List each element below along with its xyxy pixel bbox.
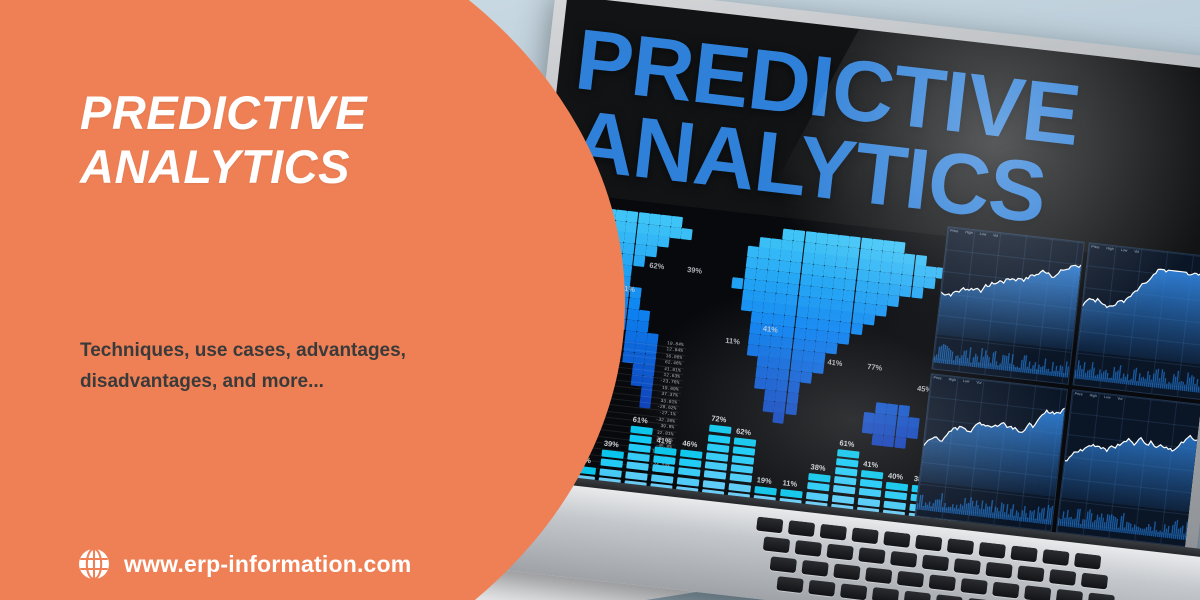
bar-segment <box>859 488 882 497</box>
panel-chart <box>932 227 1083 383</box>
bar-label: 61% <box>632 414 648 425</box>
bar-label: 41% <box>863 459 879 470</box>
keyboard-key <box>808 580 835 597</box>
bar-label: 39% <box>603 439 619 450</box>
keyboard-key <box>1088 593 1115 600</box>
bar-segment <box>630 425 653 434</box>
globe-icon <box>78 548 110 580</box>
panel-top-left: PriceHighLowVol <box>931 226 1084 385</box>
bar-segment <box>704 471 727 480</box>
page-title-line2: ANALYTICS <box>80 140 500 194</box>
bar-segment <box>651 474 674 483</box>
keyboard-key <box>883 531 910 548</box>
keyboard-key <box>1081 573 1108 590</box>
bar-segment <box>734 437 757 446</box>
bar-label: 46% <box>682 439 698 450</box>
keyboard-key <box>770 556 797 573</box>
bar-segment <box>886 482 909 491</box>
bar-segment <box>599 468 622 477</box>
keyboard-key <box>935 594 962 600</box>
keyboard-key <box>776 576 803 593</box>
keyboard-key <box>858 547 885 564</box>
bar-segment <box>708 434 731 443</box>
website-row[interactable]: www.erp-information.com <box>78 548 411 580</box>
subtitle-line1: Techniques, use cases, advantages, <box>80 336 510 367</box>
bar-segment <box>629 434 652 443</box>
bar-segment <box>807 482 830 491</box>
bar-segment <box>836 458 859 467</box>
bar-segment <box>707 443 730 452</box>
bar-segment <box>860 479 883 488</box>
bar-label: 38% <box>810 462 826 473</box>
bar-segment <box>754 486 777 495</box>
keyboard-key <box>1017 565 1044 582</box>
keyboard-key <box>890 551 917 568</box>
map-label: 77% <box>867 362 883 373</box>
bar-segment <box>705 461 728 470</box>
bar-segment <box>601 450 624 459</box>
bar-segment <box>835 467 858 476</box>
panel-bottom-right: PriceHighLowVol <box>1056 389 1200 548</box>
keyboard-key <box>897 571 924 588</box>
panel-chart <box>916 374 1067 530</box>
subtitle: Techniques, use cases, advantages, disad… <box>80 336 510 398</box>
bar-segment <box>678 468 701 477</box>
keyboard-key <box>851 527 878 544</box>
bar-segment <box>806 491 829 500</box>
bar-segment <box>627 453 650 462</box>
bar-label: 61% <box>839 438 855 449</box>
keyboard-key <box>865 567 892 584</box>
keyboard-key <box>1024 585 1051 600</box>
keyboard-key <box>1056 589 1083 600</box>
bar <box>701 425 731 501</box>
bar-segment <box>628 443 651 452</box>
copy-block: PREDICTIVE ANALYTICS Techniques, use cas… <box>0 0 520 600</box>
bar-segment <box>703 480 726 489</box>
map-label: 39% <box>687 265 703 276</box>
keyboard-key <box>801 560 828 577</box>
bar-label: 72% <box>711 414 727 425</box>
panel-top-right: PriceHighLowVol <box>1072 242 1200 401</box>
panel-chart <box>1057 390 1200 547</box>
map-label: 62% <box>649 261 665 272</box>
keyboard-key <box>922 555 949 572</box>
website-url[interactable]: www.erp-information.com <box>124 551 411 578</box>
keyboard-key <box>1010 545 1037 562</box>
keyboard-key <box>795 540 822 557</box>
keyboard-key <box>820 524 847 541</box>
bar-segment <box>626 462 649 471</box>
bar-segment <box>834 476 857 485</box>
bar-segment <box>706 452 729 461</box>
keyboard-key <box>960 578 987 595</box>
keyboard-key <box>954 558 981 575</box>
keyboard-key <box>788 520 815 537</box>
bar-label: 40% <box>888 471 904 482</box>
bar-segment <box>833 485 856 494</box>
bar-segment <box>861 470 884 479</box>
page-title: PREDICTIVE ANALYTICS <box>80 86 500 194</box>
bar-segment <box>600 459 623 468</box>
bar <box>727 437 756 503</box>
keyboard-key <box>985 562 1012 579</box>
keyboard-key <box>1042 549 1069 566</box>
keyboard-key <box>1049 569 1076 586</box>
bar-label: 11% <box>782 478 798 489</box>
bar <box>624 425 653 491</box>
panel-bottom-left: PriceHighLowVol <box>915 373 1068 532</box>
bar-segment <box>653 456 676 465</box>
chart-panel-group: PriceHighLowVolPriceHighLowVolPriceHighL… <box>914 226 1200 556</box>
panel-chart <box>1074 243 1200 400</box>
bar-label: 41% <box>656 436 672 447</box>
bar-segment <box>837 449 860 458</box>
bar-label: 19% <box>756 475 772 486</box>
bar-segment <box>677 477 700 486</box>
bar-segment <box>884 491 907 500</box>
bar <box>831 449 860 515</box>
keyboard-key <box>915 535 942 552</box>
bar-segment <box>654 446 677 455</box>
bar-segment <box>858 497 881 506</box>
keyboard-key <box>1074 553 1101 570</box>
bar-segment <box>680 449 703 458</box>
bar-segment <box>625 471 648 480</box>
bar-segment <box>679 458 702 467</box>
map-label: 41% <box>762 324 778 335</box>
bar-segment <box>808 473 831 482</box>
keyboard-key <box>979 542 1006 559</box>
bar-segment <box>728 483 751 492</box>
keyboard-key <box>929 574 956 591</box>
bar-segment <box>731 464 754 473</box>
keyboard-key <box>872 587 899 600</box>
marketing-banner: PREDICTIVE ANALYTICS 73.010.84%912.04%2.… <box>0 0 1200 600</box>
bar-segment <box>780 489 803 498</box>
keyboard-key <box>833 564 860 581</box>
keyboard-key <box>826 544 853 561</box>
keyboard-key <box>947 538 974 555</box>
bar-segment <box>652 465 675 474</box>
bar-segment <box>883 500 906 509</box>
bar-segment <box>733 446 756 455</box>
bar-segment <box>832 494 855 503</box>
keyboard-key <box>756 516 783 533</box>
bar-segment <box>730 473 753 482</box>
bar-label: 62% <box>736 426 752 437</box>
map-label: 11% <box>725 336 741 347</box>
keyboard-key <box>763 536 790 553</box>
keyboard-key <box>992 582 1019 599</box>
page-title-line1: PREDICTIVE <box>80 86 500 140</box>
bar-segment <box>732 455 755 464</box>
bar-segment <box>709 425 732 434</box>
map-label: 41% <box>827 357 843 368</box>
keyboard-key <box>840 583 867 600</box>
subtitle-line2: disadvantages, and more... <box>80 367 510 398</box>
keyboard-key <box>904 591 931 600</box>
